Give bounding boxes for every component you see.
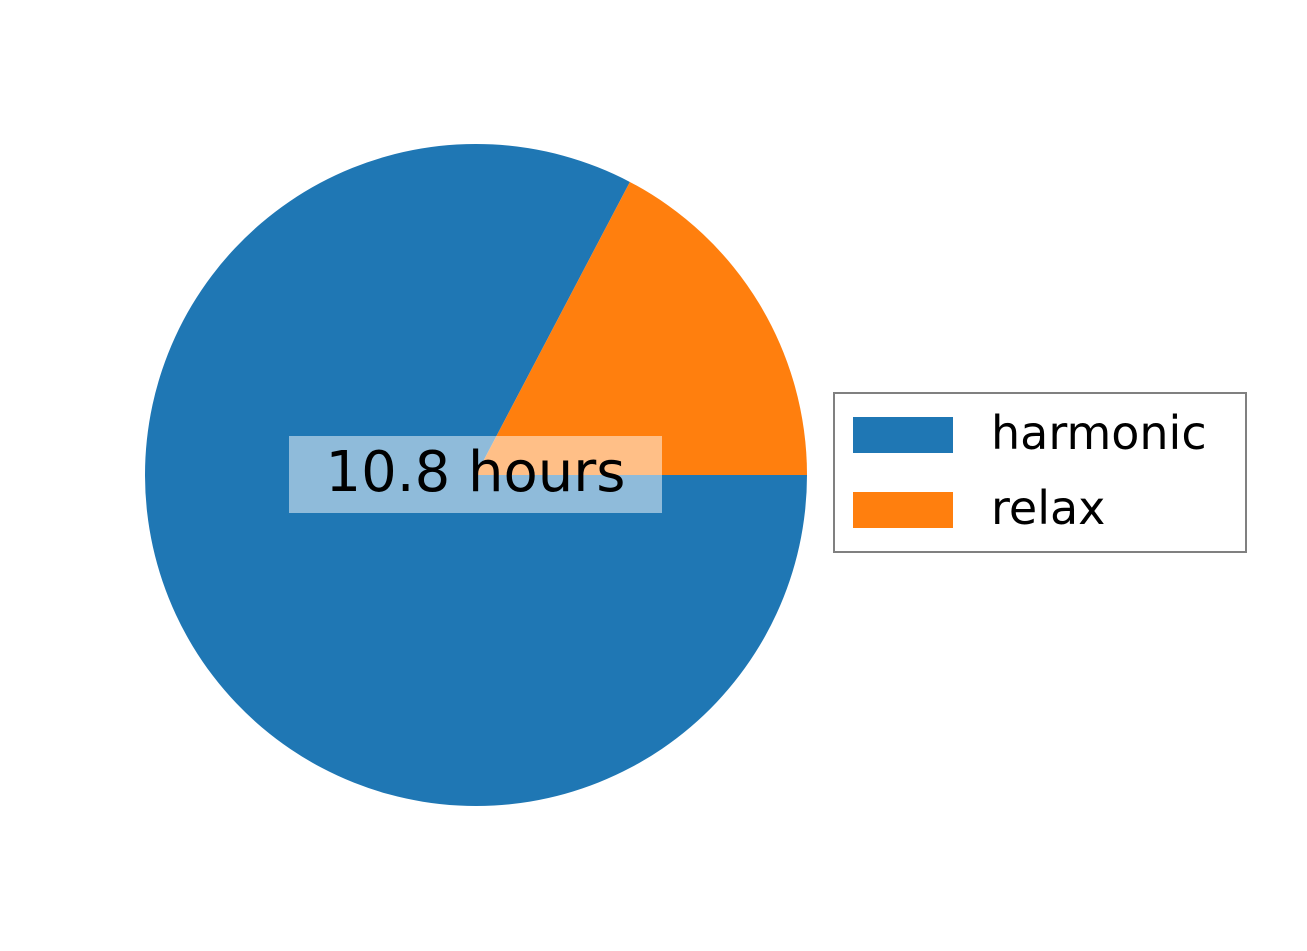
legend-swatch-harmonic	[853, 417, 953, 453]
legend-label-harmonic: harmonic	[991, 410, 1207, 460]
legend-label-relax: relax	[991, 485, 1105, 535]
legend-swatch-relax	[853, 492, 953, 528]
pie-slice-label-text: 10.8 hours	[326, 445, 626, 505]
figure-canvas: 10.8 hours harmonic relax	[0, 0, 1307, 951]
legend-item-harmonic[interactable]: harmonic	[853, 415, 1207, 455]
chart-legend: harmonic relax	[833, 392, 1247, 553]
legend-item-relax[interactable]: relax	[853, 490, 1105, 530]
pie-slice-label-box: 10.8 hours	[289, 436, 662, 513]
